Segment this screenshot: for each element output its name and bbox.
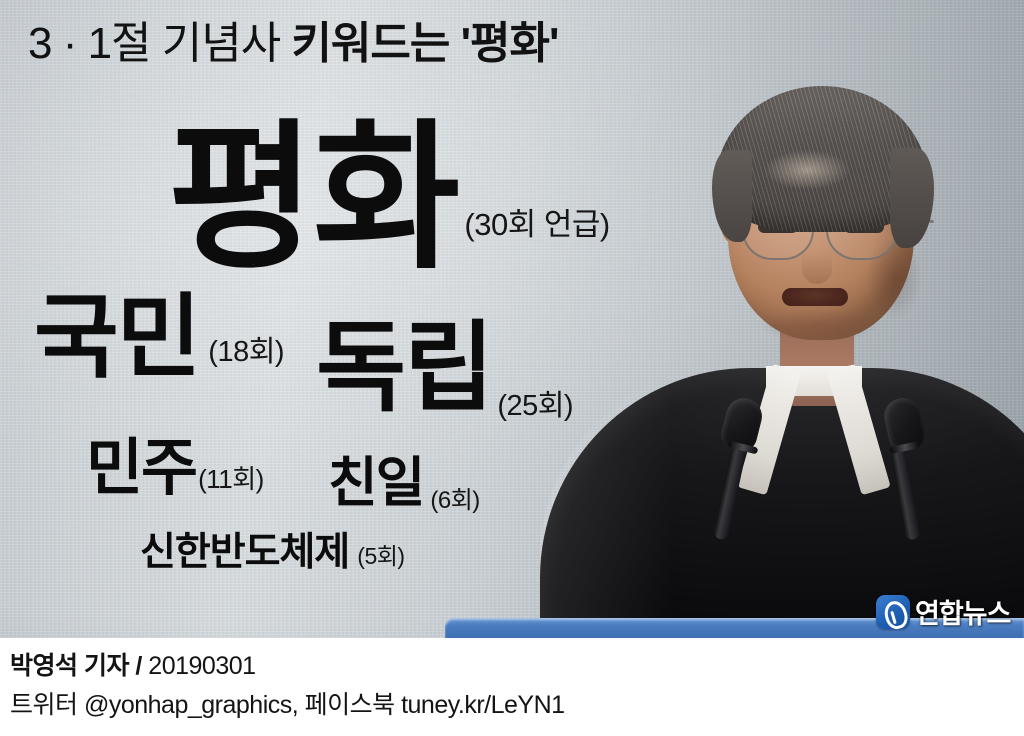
yonhap-logo: 연합뉴스 <box>876 592 1010 631</box>
word-cloud: 평화(30회 언급) 국민(18회) 독립(25회) 민주(11회) 친일(6회… <box>0 0 640 620</box>
yonhap-logo-text: 연합뉴스 <box>915 592 1010 631</box>
word-new-korean-peninsula-regime-count: (5회) <box>357 543 404 569</box>
word-people: 국민(18회) <box>34 292 284 384</box>
word-pro-japanese-label: 친일 <box>328 453 423 513</box>
word-peace: 평화(30회 언급) <box>168 118 610 278</box>
word-independence: 독립(25회) <box>316 318 573 421</box>
forehead-highlight <box>764 150 850 190</box>
word-democracy: 민주(11회) <box>86 438 264 500</box>
photo-stage: 3 · 1절 기념사 키워드는 '평화' 평화(30회 언급) 국민(18회) … <box>0 0 1024 638</box>
word-democracy-label: 민주 <box>86 434 196 503</box>
word-independence-count: (25회) <box>497 390 573 422</box>
word-peace-label: 평화 <box>168 108 458 287</box>
infographic-root: 3 · 1절 기념사 키워드는 '평화' 평화(30회 언급) 국민(18회) … <box>0 0 1024 736</box>
word-pro-japanese: 친일(6회) <box>328 456 480 513</box>
reporter-name: 박영석 기자 / <box>10 652 148 680</box>
word-pro-japanese-count: (6회) <box>430 487 479 514</box>
word-new-korean-peninsula-regime: 신한반도체제(5회) <box>140 533 405 572</box>
word-people-label: 국민 <box>34 287 199 389</box>
word-independence-label: 독립 <box>316 312 492 422</box>
word-democracy-count: (11회) <box>198 464 264 494</box>
word-new-korean-peninsula-regime-label: 신한반도체제 <box>140 531 349 574</box>
speaker-photo <box>596 0 1024 638</box>
footer-social-line: 트위터 @yonhap_graphics, 페이스북 tuney.kr/LeYN… <box>10 685 565 721</box>
footer-credit-line: 박영석 기자 / 20190301 <box>10 646 256 682</box>
chin-shading <box>756 308 880 342</box>
word-people-count: (18회) <box>208 336 284 368</box>
word-peace-count: (30회 언급) <box>464 207 609 242</box>
publish-date: 20190301 <box>148 652 255 680</box>
yonhap-y-mark-icon <box>876 595 910 629</box>
mouth <box>782 288 848 306</box>
hair-side-right <box>890 148 934 248</box>
footer: 박영석 기자 / 20190301 트위터 @yonhap_graphics, … <box>0 638 1024 736</box>
